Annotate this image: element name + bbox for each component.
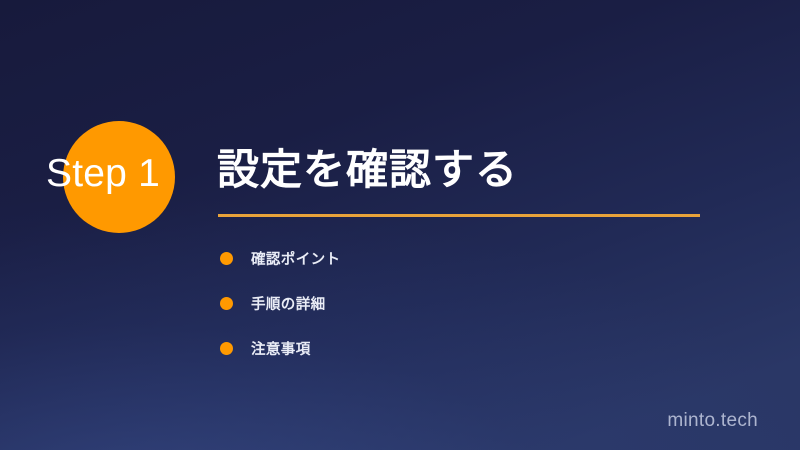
list-item: 注意事項 bbox=[220, 326, 700, 371]
list-item: 確認ポイント bbox=[220, 236, 700, 281]
bullet-item-label: 確認ポイント bbox=[251, 248, 340, 269]
title-divider bbox=[218, 214, 700, 217]
slide-title: 設定を確認する bbox=[217, 146, 518, 193]
bullet-item-label: 手順の詳細 bbox=[251, 293, 326, 314]
bullet-dot-icon bbox=[220, 252, 233, 265]
bullet-list: 確認ポイント 手順の詳細 注意事項 bbox=[220, 236, 700, 371]
watermark-label: minto.tech bbox=[667, 410, 758, 432]
bullet-dot-icon bbox=[220, 297, 233, 310]
list-item: 手順の詳細 bbox=[220, 281, 700, 326]
bullet-dot-icon bbox=[220, 342, 233, 355]
step-badge-label: Step 1 bbox=[46, 148, 206, 200]
slide-canvas: Step 1 設定を確認する 確認ポイント 手順の詳細 注意事項 minto.t… bbox=[0, 0, 800, 450]
bullet-item-label: 注意事項 bbox=[251, 338, 311, 359]
